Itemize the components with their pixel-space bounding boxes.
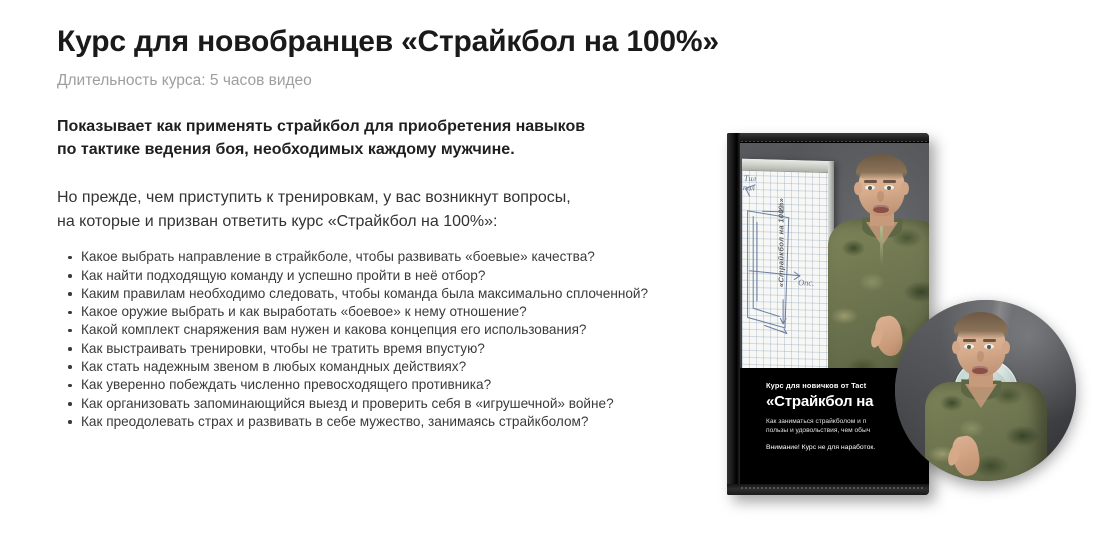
list-item-label: Каким правилам необходимо следовать, что… — [81, 286, 648, 301]
ear-left — [952, 341, 960, 354]
list-item-label: Как преодолевать страх и развивать в себ… — [81, 414, 588, 429]
disc-printed-photo — [895, 300, 1076, 481]
list-item: Как выстраивать тренировки, чтобы не тра… — [57, 340, 697, 358]
eyebrow-right — [983, 339, 996, 342]
bullet-icon — [68, 420, 72, 424]
list-item: Как стать надежным звеном в любых команд… — [57, 358, 697, 376]
list-item: Как уверенно побеждать численно превосхо… — [57, 376, 697, 394]
list-item-label: Как уверенно побеждать численно превосхо… — [81, 377, 491, 392]
dvd-disc — [895, 300, 1076, 481]
mouth — [972, 366, 988, 374]
lead-line-2: на которые и призван ответить курс «Стра… — [57, 213, 498, 230]
course-duration: Длительность курса: 5 часов видео — [57, 71, 697, 91]
list-item: Каким правилам необходимо следовать, что… — [57, 285, 697, 303]
list-item-label: Какое выбрать направление в страйкболе, … — [81, 249, 595, 264]
list-item: Какое выбрать направление в страйкболе, … — [57, 248, 697, 266]
hair — [856, 154, 907, 180]
cover-desc-line-2: пользы и удовольствия, чем обыч — [766, 427, 870, 434]
cover-desc-line-1: Как заниматься страйкболом и п — [766, 418, 866, 425]
bullet-icon — [68, 292, 72, 296]
eye-left — [865, 185, 875, 190]
list-item-label: Как найти подходящую команду и успешно п… — [81, 268, 485, 283]
nose — [877, 191, 884, 202]
lead-paragraph: Но прежде, чем приступить к тренировкам,… — [57, 186, 677, 235]
bullet-icon — [68, 347, 72, 351]
eye-right — [984, 344, 994, 349]
bullet-icon — [68, 402, 72, 406]
bullet-icon — [68, 365, 72, 369]
eyebrow-right — [883, 180, 896, 183]
eyebrow-left — [864, 180, 877, 183]
nose — [977, 351, 984, 362]
whiteboard-clip — [742, 159, 830, 173]
disc-presenter-figure — [923, 308, 1049, 481]
eye-right — [884, 185, 894, 190]
lead-bold-line-1: Показывает как применять страйкбол для п… — [57, 118, 585, 135]
bullet-icon — [68, 274, 72, 278]
bullet-icon — [68, 311, 72, 315]
page-title: Курс для новобранцев «Страйкбол на 100%» — [57, 24, 697, 60]
list-item: Как организовать запоминающийся выезд и … — [57, 395, 697, 413]
case-spine-edge — [727, 133, 740, 495]
bullet-icon — [68, 384, 72, 388]
dvd-spine-title: «Страйкбол на 100%» — [777, 178, 786, 308]
ear-right — [1002, 341, 1010, 354]
list-item: Какой комплект снаряжения вам нужен и ка… — [57, 321, 697, 339]
eye-left — [964, 344, 974, 349]
svg-text:Тил: Тил — [744, 174, 757, 183]
list-item-label: Какое оружие выбрать и как выработать «б… — [81, 304, 527, 319]
case-bottom-edge — [727, 484, 929, 495]
lead-line-1: Но прежде, чем приступить к тренировкам,… — [57, 189, 571, 206]
bullet-icon — [68, 329, 72, 333]
flipchart-whiteboard: Тил пол Опс. — [742, 159, 834, 375]
zipper-icon — [880, 226, 883, 266]
ear-right — [901, 182, 909, 195]
list-item: Какое оружие выбрать и как выработать «б… — [57, 303, 697, 321]
svg-text:Опс.: Опс. — [798, 278, 814, 287]
product-image: Тил пол Опс. «Страйкбол на 100%» — [714, 120, 1114, 520]
list-item: Как преодолевать страх и развивать в себ… — [57, 413, 697, 431]
list-item-label: Как выстраивать тренировки, чтобы не тра… — [81, 341, 485, 356]
question-list: Какое выбрать направление в страйкболе, … — [57, 248, 697, 431]
bullet-icon — [68, 256, 72, 260]
article-content: Курс для новобранцев «Страйкбол на 100%»… — [57, 24, 697, 431]
list-item-label: Как стать надежным звеном в любых команд… — [81, 359, 466, 374]
list-item: Как найти подходящую команду и успешно п… — [57, 267, 697, 285]
hair — [954, 312, 1008, 339]
ear-left — [854, 182, 862, 195]
lead-bold-line-2: по тактике ведения боя, необходимых кажд… — [57, 141, 515, 158]
eyebrow-left — [963, 339, 976, 342]
list-item-label: Какой комплект снаряжения вам нужен и ка… — [81, 322, 587, 337]
list-item-label: Как организовать запоминающийся выезд и … — [81, 396, 614, 411]
case-top-edge — [727, 133, 929, 143]
mouth — [873, 205, 889, 213]
svg-text:пол: пол — [743, 183, 755, 192]
lead-paragraph-bold: Показывает как применять страйкбол для п… — [57, 116, 657, 161]
